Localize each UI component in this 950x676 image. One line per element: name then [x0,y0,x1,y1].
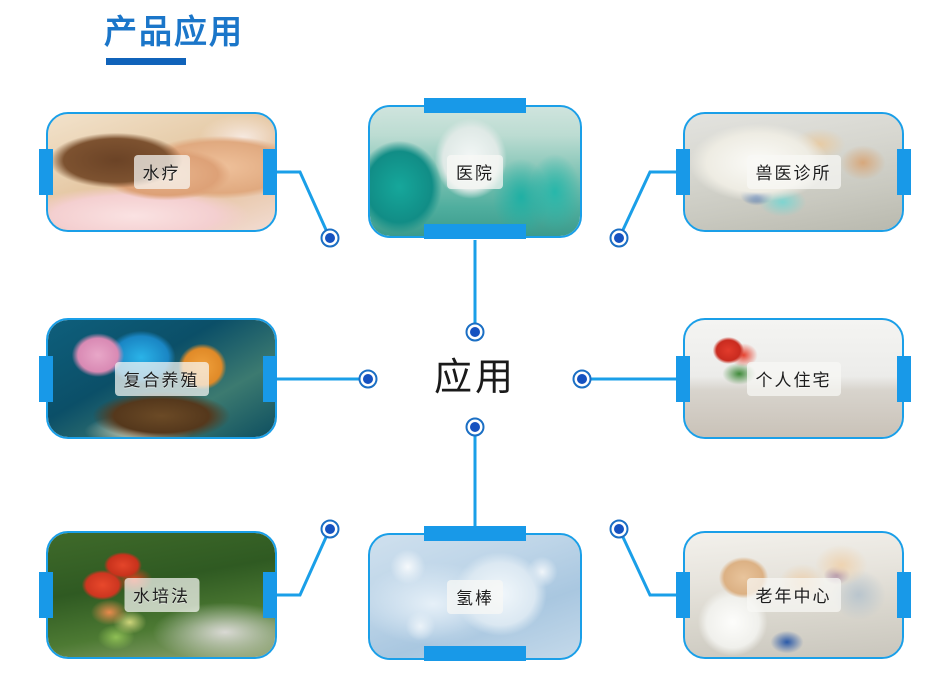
tab-spa-left [39,149,53,195]
dot-hydroponics [322,521,339,538]
dot-residence [574,371,591,388]
tab-vet-clinic-left [676,149,690,195]
dot-hospital [467,324,484,341]
tab-hydroponics-left [39,572,53,618]
wire-spa [272,172,327,232]
tab-aquaculture-right [263,356,277,402]
product-application-diagram: 产品应用 [0,0,950,676]
tab-residence-right [897,356,911,402]
tab-hydrogen-rod-bottom [424,646,526,661]
tab-hospital-top [424,98,526,113]
tab-residence-left [676,356,690,402]
tab-senior-center-left [676,572,690,618]
tab-hydrogen-rod-top [424,526,526,541]
tab-aquaculture-left [39,356,53,402]
tab-spa-right [263,149,277,195]
wire-senior-center [622,535,678,595]
tab-vet-clinic-right [897,149,911,195]
dot-senior-center [611,521,628,538]
dot-spa [322,230,339,247]
wire-vet-clinic [622,172,678,232]
wire-hydroponics [272,535,327,595]
tab-hydroponics-right [263,572,277,618]
dot-hydrogen-rod [467,419,484,436]
tab-senior-center-right [897,572,911,618]
dot-aquaculture [360,371,377,388]
tab-hospital-bottom [424,224,526,239]
dot-vet-clinic [611,230,628,247]
